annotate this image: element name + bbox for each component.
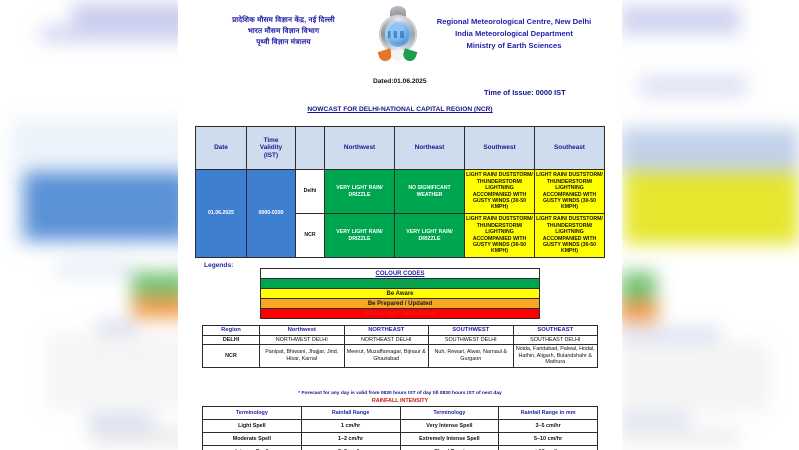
table-row: Region Northwest NORTHEAST SOUTHWEST SOU… xyxy=(203,326,598,336)
ri-term-light-spell: Light Spell xyxy=(203,420,302,433)
cell-ncr-northeast: VERY LIGHT RAIN/ DRIZZLE xyxy=(395,214,465,258)
screenshot-page: प्रादेशिक मौसम विज्ञान केंद्र, नई दिल्ली… xyxy=(0,0,799,450)
ri-col-header-term-left: Terminology xyxy=(203,407,302,420)
delhi-northeast-districts: NORTHEAST DELHI xyxy=(344,335,429,345)
colour-codes-title: COLOUR CODES xyxy=(261,269,540,279)
cell-ncr-northwest: VERY LIGHT RAIN/ DRIZZLE xyxy=(325,214,395,258)
region-name-delhi: DELHI xyxy=(203,335,260,345)
table-row: Terminology Rainfall Range Terminology R… xyxy=(203,407,598,420)
nowcast-table: Date Time Validity (IST) Northwest North… xyxy=(195,126,605,258)
document-header: प्रादेशिक मौसम विज्ञान केंद्र, नई दिल्ली… xyxy=(190,6,610,68)
cell-delhi-northwest: VERY LIGHT RAIN/ DRIZZLE xyxy=(325,170,395,214)
table-row: Light Spell 1 cm/hr Very Intense Spell 3… xyxy=(203,420,598,433)
colour-code-be-prepared: Be Prepared / Updated xyxy=(261,299,540,309)
ri-col-header-range-right: Rainfall Range in mm xyxy=(499,407,598,420)
hindi-line-2: भारत मौसम विज्ञान विभाग xyxy=(199,25,369,36)
ncr-northeast-districts: Meerut, Muzaffarnagar, Bijnaur & Ghaziab… xyxy=(344,345,429,368)
region-col-header-ne: NORTHEAST xyxy=(344,326,429,336)
col-header-subregion xyxy=(296,127,325,170)
ri-term-very-intense-spell: Very Intense Spell xyxy=(400,420,499,433)
ri-col-header-term-right: Terminology xyxy=(400,407,499,420)
hindi-line-3: पृथ्वी विज्ञान मंत्रालय xyxy=(199,36,369,47)
delhi-southwest-districts: SOUTHWEST DELHI xyxy=(429,335,514,345)
cell-time-validity: 0000-0200 xyxy=(247,170,296,258)
ri-range-light-spell: 1 cm/hr xyxy=(301,420,400,433)
table-header-row: Date Time Validity (IST) Northwest North… xyxy=(196,127,605,170)
ncr-southwest-districts: Nuh, Rewari, Alwar, Narnaul & Gurgaon xyxy=(429,345,514,368)
hindi-line-1: प्रादेशिक मौसम विज्ञान केंद्र, नई दिल्ली xyxy=(199,14,369,25)
region-col-header: Region xyxy=(203,326,260,336)
cell-ncr-southwest: LIGHT RAIN/ DUSTSTORM/ THUNDERSTORM/ LIG… xyxy=(465,214,535,258)
colour-code-be-aware: Be Aware xyxy=(261,289,540,299)
colour-code-take-action: Whole Vigil / Take Action xyxy=(261,309,540,319)
col-header-northeast: Northeast xyxy=(395,127,465,170)
table-row: Moderate Spell 1–2 cm/hr Extremely Inten… xyxy=(203,433,598,446)
ri-range-moderate-spell: 1–2 cm/hr xyxy=(301,433,400,446)
rainfall-intensity-title: RAINFALL INTENSITY xyxy=(190,398,610,404)
cell-ncr-southeast: LIGHT RAIN/ DUSTSTORM/ THUNDERSTORM/ LIG… xyxy=(535,214,605,258)
colour-code-no-warning: No Warning xyxy=(261,279,540,289)
col-header-date: Date xyxy=(196,127,247,170)
imd-emblem-icon xyxy=(375,6,421,64)
ri-term-cloud-burst: Cloud Burst xyxy=(400,446,499,450)
right-page-margin xyxy=(608,0,622,450)
region-col-header-nw: Northwest xyxy=(260,326,345,336)
table-row: NCR Panipat, Bhiwani, Jhajjar, Jind, His… xyxy=(203,345,598,368)
col-header-southeast: Southeast xyxy=(535,127,605,170)
region-col-header-se: SOUTHEAST xyxy=(513,326,598,336)
delhi-southeast-districts: SOUTHEAST DELHI xyxy=(513,335,598,345)
colour-codes-table: COLOUR CODES No Warning Be Aware Be Prep… xyxy=(260,268,540,319)
cell-subregion-ncr: NCR xyxy=(296,214,325,258)
page-title: NOWCAST FOR DELHI-NATIONAL CAPITAL REGIO… xyxy=(190,106,610,113)
imd-nowcast-document: प्रादेशिक मौसम विज्ञान केंद्र, नई दिल्ली… xyxy=(190,0,610,450)
region-mapping-table: Region Northwest NORTHEAST SOUTHWEST SOU… xyxy=(202,325,598,368)
english-line-1: Regional Meteorological Centre, New Delh… xyxy=(427,16,602,28)
forecast-validity-note: * Forecast for any day is valid from 083… xyxy=(190,391,610,396)
cell-delhi-northeast: NO SIGNIFICANT WEATHER xyxy=(395,170,465,214)
header-english-block: Regional Meteorological Centre, New Delh… xyxy=(427,6,602,52)
english-line-3: Ministry of Earth Sciences xyxy=(427,40,602,52)
region-name-ncr: NCR xyxy=(203,345,260,368)
rainfall-intensity-table: Terminology Rainfall Range Terminology R… xyxy=(202,406,598,450)
ri-term-extremely-intense-spell: Extremely Intense Spell xyxy=(400,433,499,446)
legends-label: Legends: xyxy=(204,262,233,269)
ncr-northwest-districts: Panipat, Bhiwani, Jhajjar, Jind, Hisar, … xyxy=(260,345,345,368)
ri-range-intense-spell: 2–3 cm/hr xyxy=(301,446,400,450)
cell-subregion-delhi: Delhi xyxy=(296,170,325,214)
ri-term-moderate-spell: Moderate Spell xyxy=(203,433,302,446)
english-line-2: India Meteorological Department xyxy=(427,28,602,40)
col-header-northwest: Northwest xyxy=(325,127,395,170)
region-col-header-sw: SOUTHWEST xyxy=(429,326,514,336)
time-of-issue-text: Time of Issue: 0000 IST xyxy=(484,88,566,97)
ri-range-cloud-burst: >10 cm/hr xyxy=(499,446,598,450)
table-row: Intense Spell 2–3 cm/hr Cloud Burst >10 … xyxy=(203,446,598,450)
ri-term-intense-spell: Intense Spell xyxy=(203,446,302,450)
cell-delhi-southwest: LIGHT RAIN/ DUSTSTORM/ THUNDERSTORM/ LIG… xyxy=(465,170,535,214)
ri-col-header-range-left: Rainfall Range xyxy=(301,407,400,420)
delhi-northwest-districts: NORTHWEST DELHI xyxy=(260,335,345,345)
table-row: DELHI NORTHWEST DELHI NORTHEAST DELHI SO… xyxy=(203,335,598,345)
ri-range-very-intense-spell: 3–5 cm/hr xyxy=(499,420,598,433)
header-hindi-block: प्रादेशिक मौसम विज्ञान केंद्र, नई दिल्ली… xyxy=(199,6,369,47)
col-header-time-validity: Time Validity (IST) xyxy=(247,127,296,170)
ri-range-extremely-intense-spell: 5–10 cm/hr xyxy=(499,433,598,446)
cell-delhi-southeast: LIGHT RAIN/ DUSTSTORM/ THUNDERSTORM/ LIG… xyxy=(535,170,605,214)
table-row: 01.06.2025 0000-0200 Delhi VERY LIGHT RA… xyxy=(196,170,605,214)
dated-text: Dated:01.06.2025 xyxy=(373,78,427,85)
col-header-southwest: Southwest xyxy=(465,127,535,170)
ncr-southeast-districts: Noida, Faridabad, Palwal, Hodal, Hathin,… xyxy=(513,345,598,368)
cell-date: 01.06.2025 xyxy=(196,170,247,258)
